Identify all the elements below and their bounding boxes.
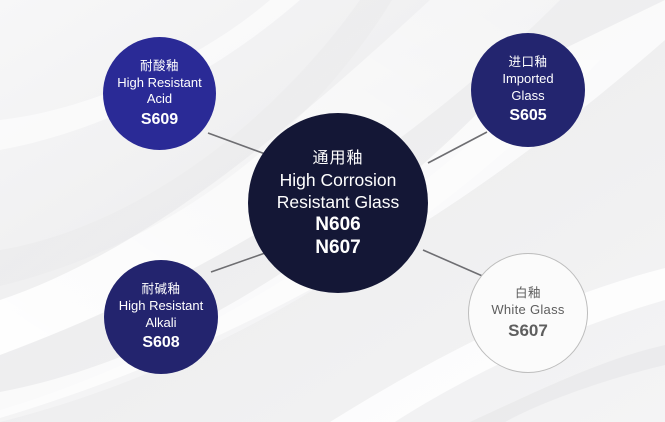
node-alkali-cn: 耐碱釉 (141, 281, 180, 298)
node-center-code-1: N606 (315, 213, 360, 236)
node-imported-en-2: Glass (511, 88, 544, 105)
node-acid-en-1: High Resistant (117, 75, 202, 92)
node-white-en-1: White Glass (491, 302, 564, 319)
node-white-glaze[interactable]: 白釉 White Glass S607 (468, 253, 588, 373)
node-center-en-1: High Corrosion (280, 169, 397, 191)
node-alkali-resistant-glaze[interactable]: 耐碱釉 High Resistant Alkali S608 (104, 260, 218, 374)
node-imported-cn: 进口釉 (508, 54, 547, 71)
node-white-cn: 白釉 (515, 285, 541, 302)
node-acid-code: S609 (141, 109, 178, 130)
connector-center-to-imported (428, 132, 487, 163)
node-general-glaze[interactable]: 通用釉 High Corrosion Resistant Glass N606 … (248, 113, 428, 293)
node-white-code: S607 (508, 320, 548, 341)
node-alkali-en-2: Alkali (145, 315, 176, 332)
diagram-canvas: 通用釉 High Corrosion Resistant Glass N606 … (0, 0, 665, 422)
node-center-en-2: Resistant Glass (277, 191, 400, 213)
connector-center-to-alkali (211, 252, 268, 272)
node-imported-glaze[interactable]: 进口釉 Imported Glass S605 (471, 33, 585, 147)
node-acid-cn: 耐酸釉 (140, 58, 179, 75)
node-center-code-2: N607 (315, 236, 360, 259)
node-acid-resistant-glaze[interactable]: 耐酸釉 High Resistant Acid S609 (103, 37, 216, 150)
connector-center-to-acid (208, 133, 268, 155)
node-acid-en-2: Acid (147, 91, 172, 108)
node-alkali-en-1: High Resistant (119, 298, 204, 315)
node-imported-code: S605 (509, 105, 546, 126)
node-imported-en-1: Imported (502, 71, 553, 88)
node-alkali-code: S608 (142, 332, 179, 353)
node-center-cn: 通用釉 (312, 148, 363, 169)
connector-center-to-white (423, 250, 487, 278)
